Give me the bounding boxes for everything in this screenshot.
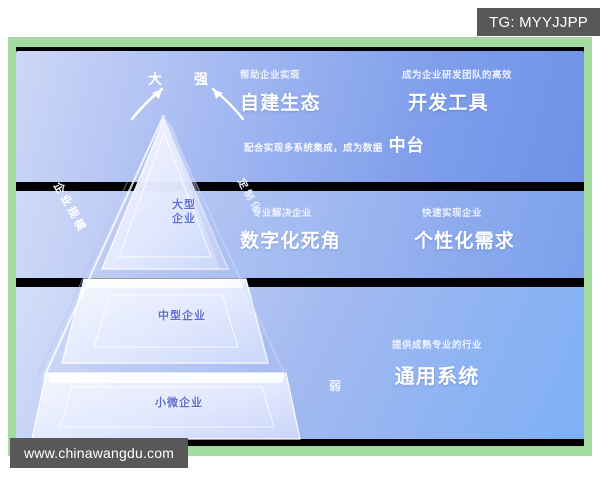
site-url-watermark: www.chinawangdu.com [10,438,188,468]
panel-medium-item-1-headline: 个性化需求 [414,226,566,253]
panel-large-item-1-headline: 开发工具 [408,88,562,115]
pyramid-tier-large [102,119,228,269]
screenshot-root: TG: MYYJJPP 帮助企业实现 自建生态 成为企业研发团队的高效 开发工具 [0,0,600,480]
arrow-up-right [197,83,249,125]
image-frame: 帮助企业实现 自建生态 成为企业研发团队的高效 开发工具 配合实现多系统集成，成… [8,37,592,456]
axis-label-ruo: 弱 [329,377,341,394]
panel-large-footnote-headline: 中台 [389,131,425,156]
panel-large-item-1: 成为企业研发团队的高效 开发工具 [402,67,562,115]
telegram-watermark-badge: TG: MYYJJPP [477,8,600,36]
panel-small-item-0-lead: 提供成熟专业的行业 [298,337,576,351]
panel-medium-item-1: 快速实现企业 个性化需求 [406,205,566,253]
pyramid-label-large: 大型 企业 [154,199,214,227]
diagram-stage: 帮助企业实现 自建生态 成为企业研发团队的高效 开发工具 配合实现多系统集成，成… [16,47,584,446]
pyramid-label-large-line2: 企业 [154,213,214,227]
pyramid-label-medium: 中型企业 [127,310,237,324]
panel-medium-item-1-lead: 快速实现企业 [422,205,566,219]
pyramid-label-small: 小微企业 [124,397,234,411]
pyramid-label-large-line1: 大型 [154,199,214,213]
arrow-up-left [128,83,180,125]
panel-large-item-1-lead: 成为企业研发团队的高效 [402,67,562,81]
